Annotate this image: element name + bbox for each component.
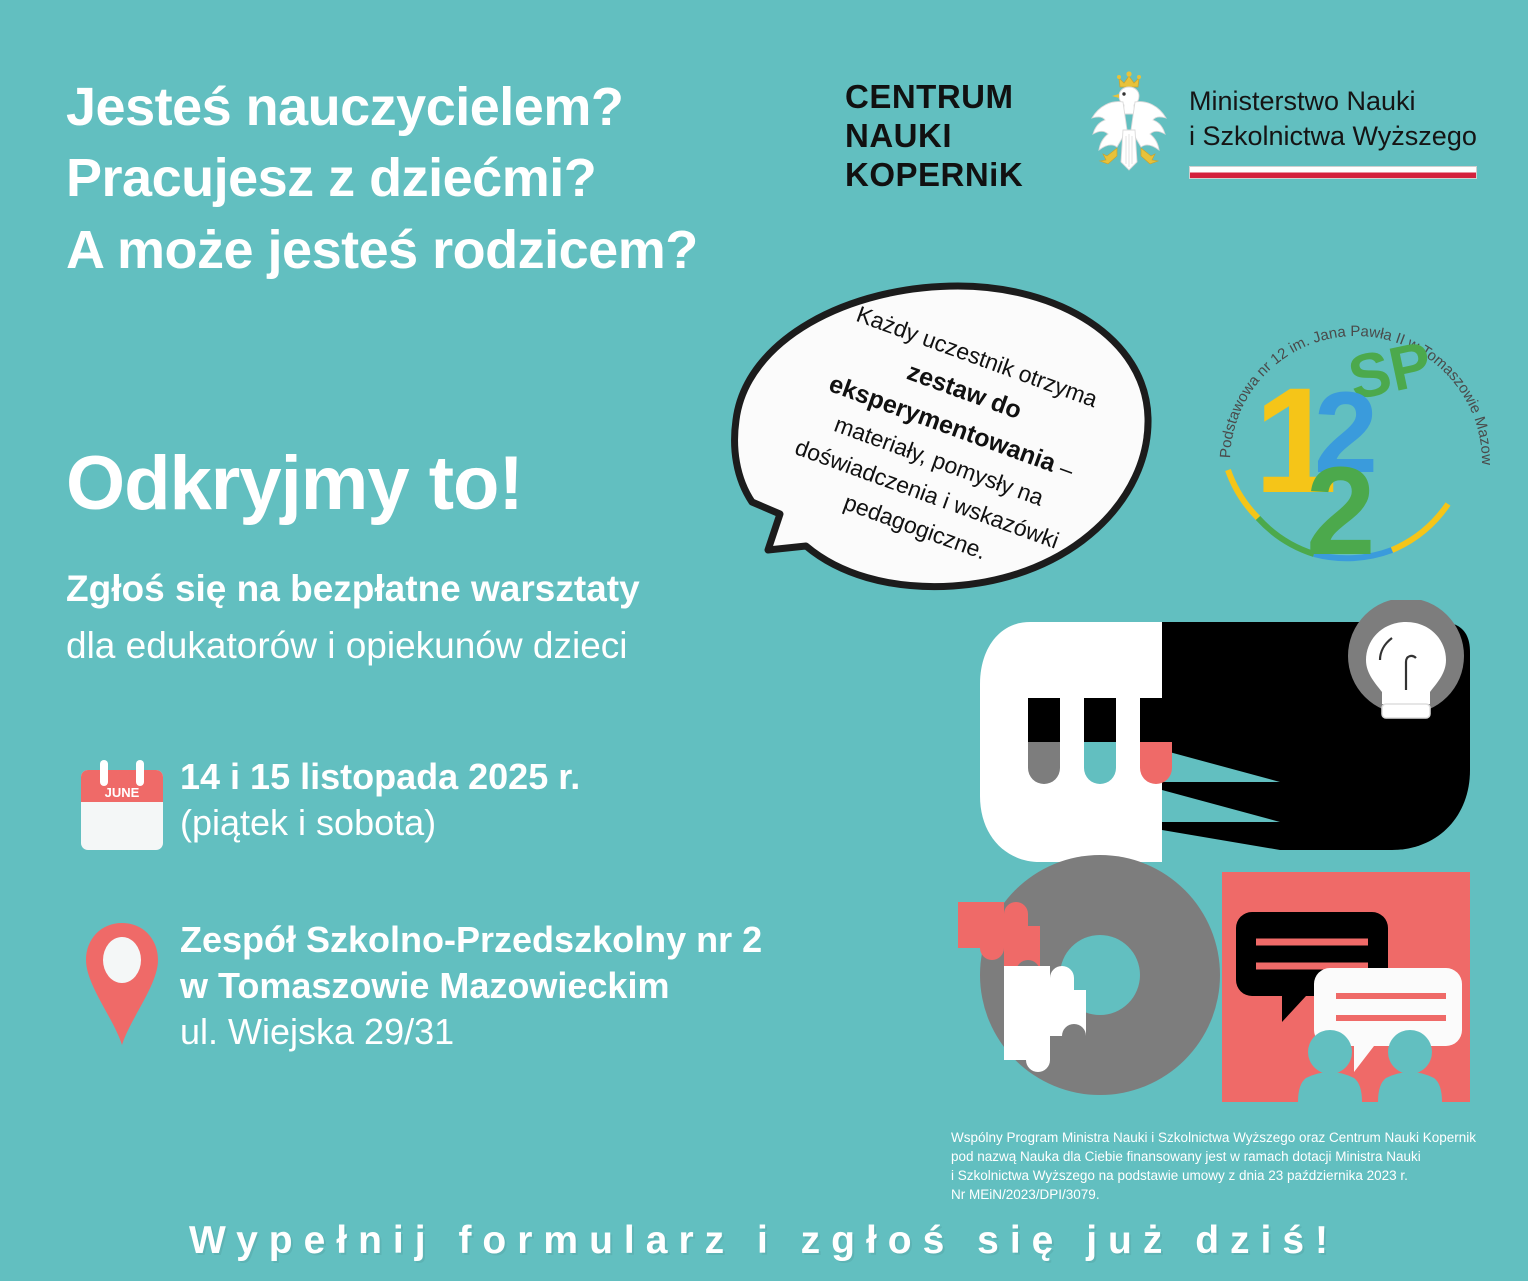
cta-banner: Wypełnij formularz i zgłoś się już dziś! <box>0 1200 1528 1281</box>
school-logo-two-green: 2 <box>1306 442 1376 577</box>
headline-line-3: A może jesteś rodzicem? <box>66 215 866 286</box>
map-pin-icon <box>82 919 162 1049</box>
legal-note: Wspólny Program Ministra Nauki i Szkolni… <box>951 1128 1471 1205</box>
legal-line-1: Wspólny Program Ministra Nauki i Szkolni… <box>951 1128 1471 1147</box>
place-primary-line2: w Tomaszowie Mazowieckim <box>180 963 762 1009</box>
date-info-row: JUNE 14 i 15 listopada 2025 r. (piątek i… <box>64 752 580 854</box>
collage-illustration <box>940 600 1500 1130</box>
place-secondary: ul. Wiejska 29/31 <box>180 1009 762 1055</box>
poster-root: Jesteś nauczycielem? Pracujesz z dziećmi… <box>0 0 1528 1281</box>
place-info-row: Zespół Szkolno-Przedszkolny nr 2 w Tomas… <box>64 915 762 1055</box>
cta-banner-text: Wypełnij formularz i zgłoś się już dziś! <box>189 1219 1339 1263</box>
white-panel-shape <box>980 622 1162 862</box>
calendar-month-label: JUNE <box>105 785 140 800</box>
date-primary: 14 i 15 listopada 2025 r. <box>180 754 580 800</box>
place-text-block: Zespół Szkolno-Przedszkolny nr 2 w Tomas… <box>180 915 762 1055</box>
ministry-line-1: Ministerstwo Nauki <box>1189 84 1477 119</box>
ministry-line-2: i Szkolnictwa Wyższego <box>1189 119 1477 154</box>
ministry-logo: Ministerstwo Nauki i Szkolnictwa Wyższeg… <box>1083 70 1477 179</box>
page-title: Odkryjmy to! <box>66 440 523 527</box>
calendar-icon: JUNE <box>75 756 169 854</box>
polish-flag-bar <box>1189 166 1477 179</box>
subtitle-light: dla edukatorów i opiekunów dzieci <box>66 625 628 667</box>
cnk-logo-line-3: KOPERNiK <box>845 156 1023 195</box>
subtitle-bold: Zgłoś się na bezpłatne warsztaty <box>66 568 640 610</box>
headline-line-1: Jesteś nauczycielem? <box>66 72 866 143</box>
calendar-icon-slot: JUNE <box>64 752 180 854</box>
place-primary-line1: Zespół Szkolno-Przedszkolny nr 2 <box>180 917 762 963</box>
ministry-text-block: Ministerstwo Nauki i Szkolnictwa Wyższeg… <box>1189 70 1477 179</box>
headline-line-2: Pracujesz z dziećmi? <box>66 143 866 214</box>
date-secondary: (piątek i sobota) <box>180 800 580 846</box>
cnk-logo-line-2: NAUKI <box>845 117 1023 156</box>
cnk-logo-line-1: CENTRUM <box>845 78 1023 117</box>
legal-line-2: pod nazwą Nauka dla Ciebie finansowany j… <box>951 1147 1471 1166</box>
polish-eagle-icon <box>1083 70 1175 178</box>
date-text-block: 14 i 15 listopada 2025 r. (piątek i sobo… <box>180 752 580 846</box>
speech-bubble: Każdy uczestnik otrzyma zestaw do eksper… <box>728 278 1158 608</box>
legal-line-3: i Szkolnictwa Wyższego na podstawie umow… <box>951 1166 1471 1185</box>
school-logo: Szkoła Podstawowa nr 12 im. Jana Pawła I… <box>1196 292 1516 577</box>
test-tube-icon <box>1028 698 1172 784</box>
map-pin-icon-slot <box>64 915 180 1049</box>
centrum-nauki-kopernik-logo: CENTRUM NAUKI KOPERNiK <box>845 78 1023 195</box>
headline-block: Jesteś nauczycielem? Pracujesz z dziećmi… <box>66 72 866 286</box>
